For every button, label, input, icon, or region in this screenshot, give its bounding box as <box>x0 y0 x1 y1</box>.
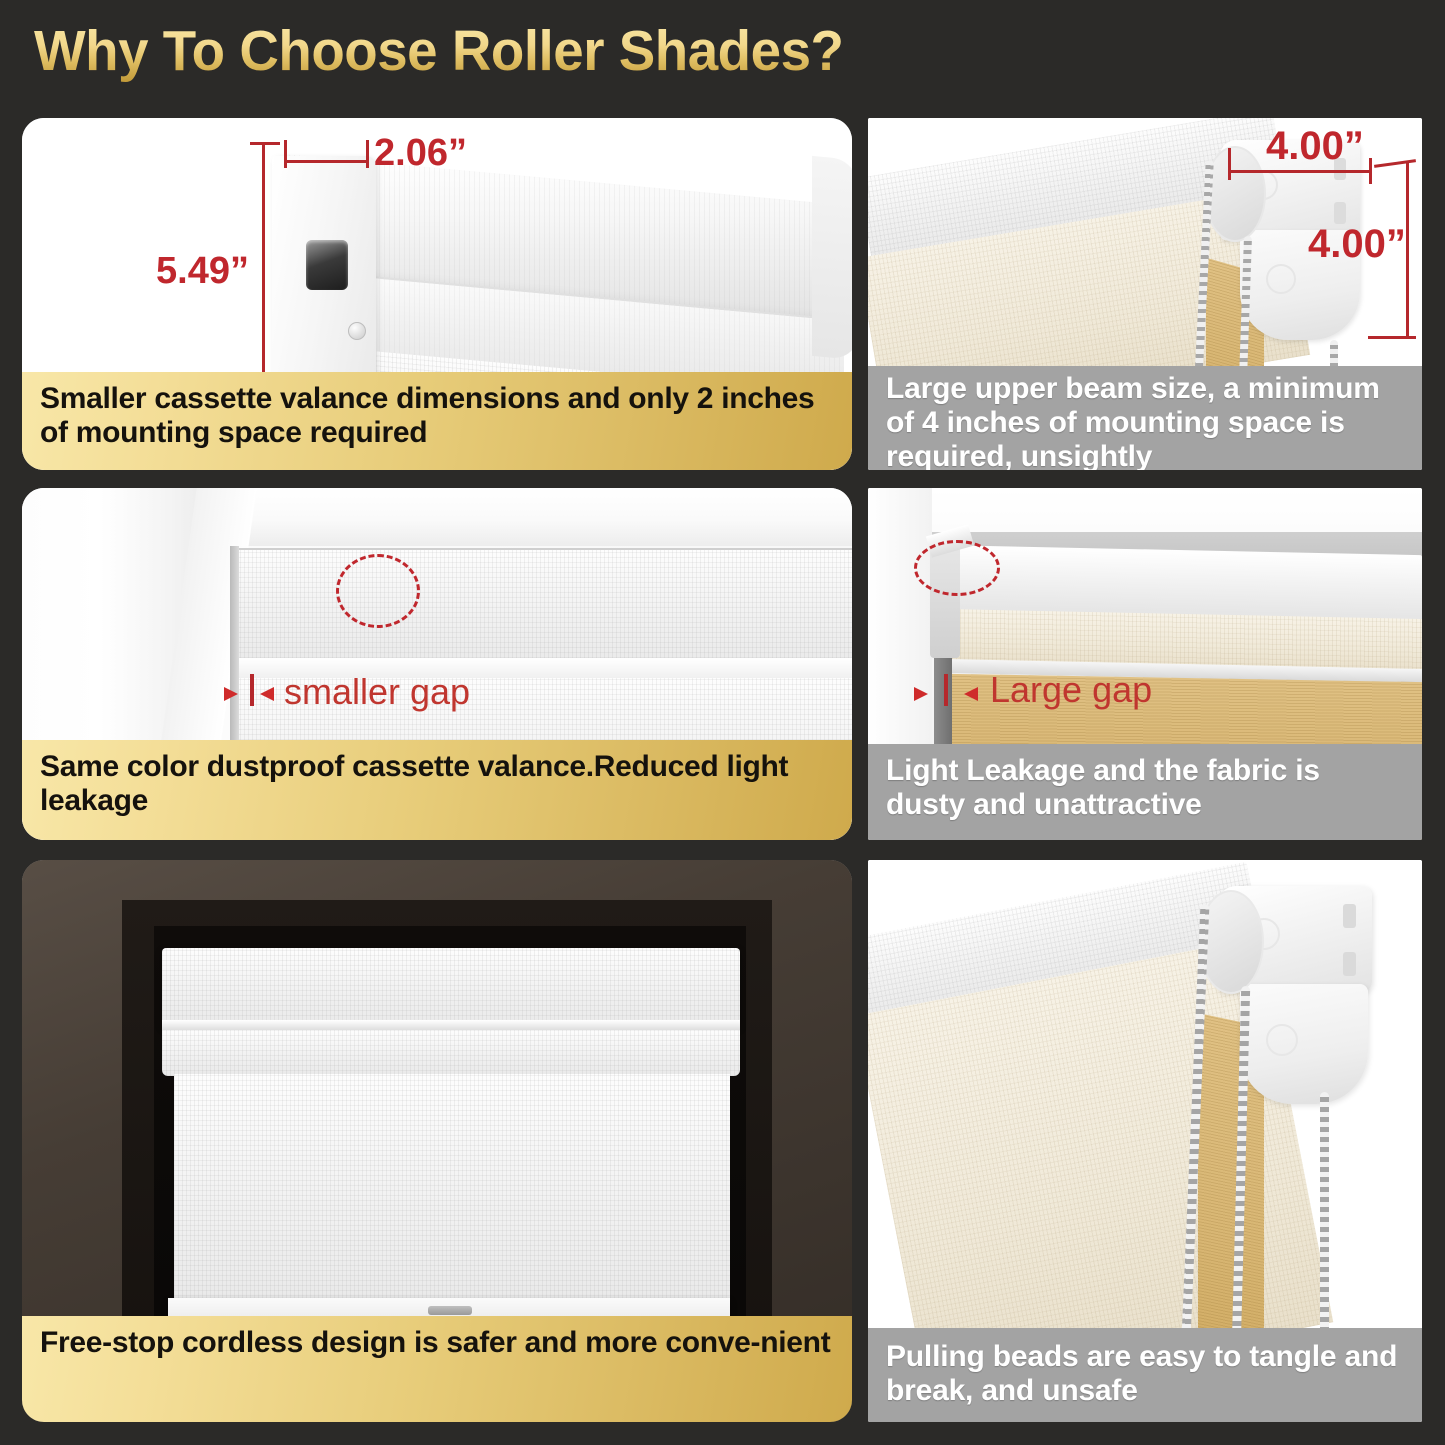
large-gap-label: Large gap <box>990 669 1152 711</box>
panel-4-bad-light-leakage: Large gap Light Leakage and the fabric i… <box>868 488 1422 840</box>
gap-arrow-right-icon <box>260 687 274 701</box>
mounting-bracket-lower <box>1240 984 1368 1104</box>
gap-arrow-right-icon-a <box>224 687 238 701</box>
panel-1-caption: Smaller cassette valance dimensions and … <box>22 372 852 470</box>
panel-2-caption: Large upper beam size, a minimum of 4 in… <box>868 366 1422 470</box>
gap-arrow-right-icon <box>964 687 978 701</box>
wall-left <box>868 488 932 748</box>
smaller-gap-label: smaller gap <box>284 671 470 713</box>
beam-width-dim-line <box>1228 170 1372 173</box>
end-cap-screw <box>348 322 366 340</box>
width-dimension-label: 2.06” <box>374 132 467 175</box>
headrail-lip <box>162 1020 740 1030</box>
shade-fabric <box>174 1074 730 1306</box>
height-dim-tick-top <box>250 142 280 145</box>
gap-marker-line <box>250 674 254 706</box>
beam-width-tick-right <box>1369 158 1372 184</box>
panel-3-good-dustproof-valance: smaller gap Same color dustproof cassett… <box>22 488 852 840</box>
panel-5-good-cordless: Free-stop cordless design is safer and m… <box>22 860 852 1422</box>
headrail-lower-face <box>162 1030 740 1076</box>
width-dim-line <box>284 160 368 163</box>
gap-marker-line <box>944 674 948 706</box>
infographic-root: Why To Choose Roller Shades? <box>0 0 1445 1445</box>
beam-width-label: 4.00” <box>1266 124 1364 169</box>
beam-height-label: 4.00” <box>1308 222 1406 267</box>
valance-right-end <box>812 156 852 360</box>
panel-2-bad-large-beam: 4.00” 4.00” Large upper beam size, a min… <box>868 118 1422 470</box>
width-dim-tick-right <box>366 140 369 168</box>
panel-3-caption: Same color dustproof cassette valance.Re… <box>22 740 852 840</box>
gap-arrow-left-icon <box>914 687 928 701</box>
highlight-circle-icon <box>914 540 1000 596</box>
height-dimension-label: 5.49” <box>156 250 249 293</box>
page-title: Why To Choose Roller Shades? <box>34 22 843 82</box>
beam-width-tick-left <box>1228 148 1231 180</box>
cassette-headrail <box>162 948 740 1026</box>
panel-1-good-valance-dimensions: 2.06” 5.49” Smaller cassette valance dim… <box>22 118 852 470</box>
cassette-valance-face <box>236 548 852 668</box>
window-frame-top <box>208 488 852 546</box>
beam-height-tick-bottom <box>1368 336 1416 339</box>
roller-end-disc <box>1204 146 1266 242</box>
end-cap-slot <box>306 240 348 290</box>
bottom-rail-handle <box>428 1306 472 1315</box>
panel-6-bad-bead-chain: Pulling beads are easy to tangle and bre… <box>868 860 1422 1422</box>
panel-6-caption: Pulling beads are easy to tangle and bre… <box>868 1328 1422 1422</box>
beam-height-dim-line <box>1406 162 1409 338</box>
panel-5-caption: Free-stop cordless design is safer and m… <box>22 1316 852 1422</box>
panel-4-caption: Light Leakage and the fabric is dusty an… <box>868 744 1422 840</box>
highlight-circle-icon <box>336 554 420 628</box>
beam-height-tick-top <box>1374 159 1416 168</box>
width-dim-tick-left <box>284 140 287 168</box>
